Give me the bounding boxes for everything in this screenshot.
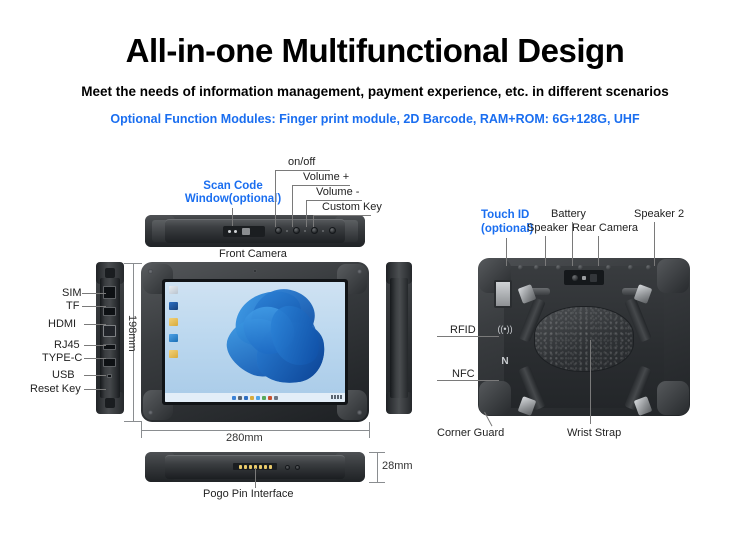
custom-key-leader-v xyxy=(313,215,314,227)
screen-bezel xyxy=(162,279,348,405)
tf-label: TF xyxy=(66,300,79,313)
touch-id-label: Touch ID (optional) xyxy=(481,208,533,236)
back-view: ((•)) N xyxy=(478,258,690,416)
top-edge-view xyxy=(145,215,365,247)
hdmi-leader xyxy=(84,324,106,325)
nfc-icon: N xyxy=(498,354,512,368)
power-label: on/off xyxy=(288,156,315,169)
scan-code-leader xyxy=(232,208,233,226)
page-title: All-in-one Multifunctional Design xyxy=(0,32,750,70)
reset-key-port xyxy=(107,374,112,378)
product-diagram-page: All-in-one Multifunctional Design Meet t… xyxy=(0,0,750,535)
usb-port xyxy=(103,358,116,367)
battery-label: Battery xyxy=(551,208,586,221)
speaker-leader xyxy=(545,236,546,266)
fingerprint-sensor[interactable] xyxy=(494,280,512,308)
volume-down-leader-v xyxy=(306,200,307,227)
sim-label: SIM xyxy=(62,287,82,300)
corner-guard-label: Corner Guard xyxy=(437,427,504,440)
back-corner-guard-br xyxy=(657,381,689,415)
custom-key-label: Custom Key xyxy=(322,201,382,214)
right-edge-view xyxy=(386,262,412,414)
volume-down-label: Volume - xyxy=(316,186,359,199)
back-corner-guard-tr xyxy=(657,259,689,293)
thickness-dim-line xyxy=(377,452,378,482)
height-dim-tick-top xyxy=(124,263,142,264)
touch-id-leader xyxy=(506,238,507,266)
thickness-tick-bottom xyxy=(369,482,385,483)
front-camera-label: Front Camera xyxy=(219,248,287,261)
volume-up-button[interactable] xyxy=(293,227,300,234)
front-camera-lens xyxy=(253,269,257,273)
page-subtitle: Meet the needs of information management… xyxy=(0,84,750,99)
type-c-label: TYPE-C xyxy=(42,352,82,365)
volume-down-button[interactable] xyxy=(311,227,318,234)
power-button[interactable] xyxy=(275,227,282,234)
windows-wallpaper xyxy=(223,289,335,390)
height-dim-tick-bottom xyxy=(124,421,142,422)
desktop-icons[interactable] xyxy=(169,286,182,366)
wrist-strap-leader xyxy=(590,340,591,424)
top-edge-button-row xyxy=(275,227,347,237)
bottom-dot-2 xyxy=(285,465,290,470)
left-edge-view xyxy=(96,262,124,414)
rear-camera-lens xyxy=(572,275,578,281)
wrist-strap-pad xyxy=(534,306,634,372)
optional-modules-line: Optional Function Modules: Finger print … xyxy=(0,112,750,126)
usb-leader xyxy=(84,375,106,376)
width-dim-tick-right xyxy=(369,422,370,438)
speaker2-leader xyxy=(654,222,655,266)
back-corner-guard-bl xyxy=(479,381,511,415)
sim-leader xyxy=(82,293,106,294)
power-leader-v xyxy=(275,170,276,227)
reset-key-leader xyxy=(84,389,106,390)
thickness-tick-top xyxy=(369,452,385,453)
thickness-dimension-label: 28mm xyxy=(382,460,413,472)
pogo-pin-leader xyxy=(255,468,256,488)
width-dimension-label: 280mm xyxy=(226,432,263,444)
speaker-label: Speaker xyxy=(527,222,568,235)
rear-camera-label: Rear Camera xyxy=(572,222,638,235)
pogo-pin-label: Pogo Pin Interface xyxy=(203,488,294,501)
taskbar[interactable] xyxy=(165,393,345,402)
height-dimension-label: 198mm xyxy=(126,315,138,352)
rj45-port xyxy=(103,325,116,337)
scan-code-label: Scan Code Window(optional) xyxy=(178,180,288,206)
speaker2-label: Speaker 2 xyxy=(634,208,684,221)
system-tray[interactable] xyxy=(331,395,342,399)
width-dim-line xyxy=(141,430,369,431)
camera-ir-sensor xyxy=(590,274,597,282)
tf-leader xyxy=(82,306,106,307)
width-dim-tick-left xyxy=(141,422,142,438)
volume-up-leader-v xyxy=(292,185,293,227)
rfid-leader xyxy=(437,336,499,337)
type-c-leader xyxy=(84,358,106,359)
nfc-leader xyxy=(437,380,499,381)
hdmi-label: HDMI xyxy=(48,318,76,331)
rj45-leader xyxy=(84,345,106,346)
rfid-icon: ((•)) xyxy=(498,322,512,336)
rear-camera-leader xyxy=(598,236,599,266)
custom-key-button[interactable] xyxy=(329,227,336,234)
rj45-label: RJ45 xyxy=(54,339,80,352)
right-edge-bar xyxy=(390,278,408,398)
rear-camera-module xyxy=(564,270,604,285)
wrist-strap-label: Wrist Strap xyxy=(567,427,621,440)
hdmi-port xyxy=(103,307,116,316)
usb-label: USB xyxy=(52,369,75,382)
bottom-dot-3 xyxy=(295,465,300,470)
camera-flash xyxy=(582,276,586,280)
reset-key-label: Reset Key xyxy=(30,383,81,396)
front-view xyxy=(141,262,369,422)
scan-code-window xyxy=(223,226,265,237)
custom-key-leader-h xyxy=(313,215,371,216)
tablet-screen[interactable] xyxy=(165,282,345,402)
volume-up-label: Volume + xyxy=(303,171,349,184)
